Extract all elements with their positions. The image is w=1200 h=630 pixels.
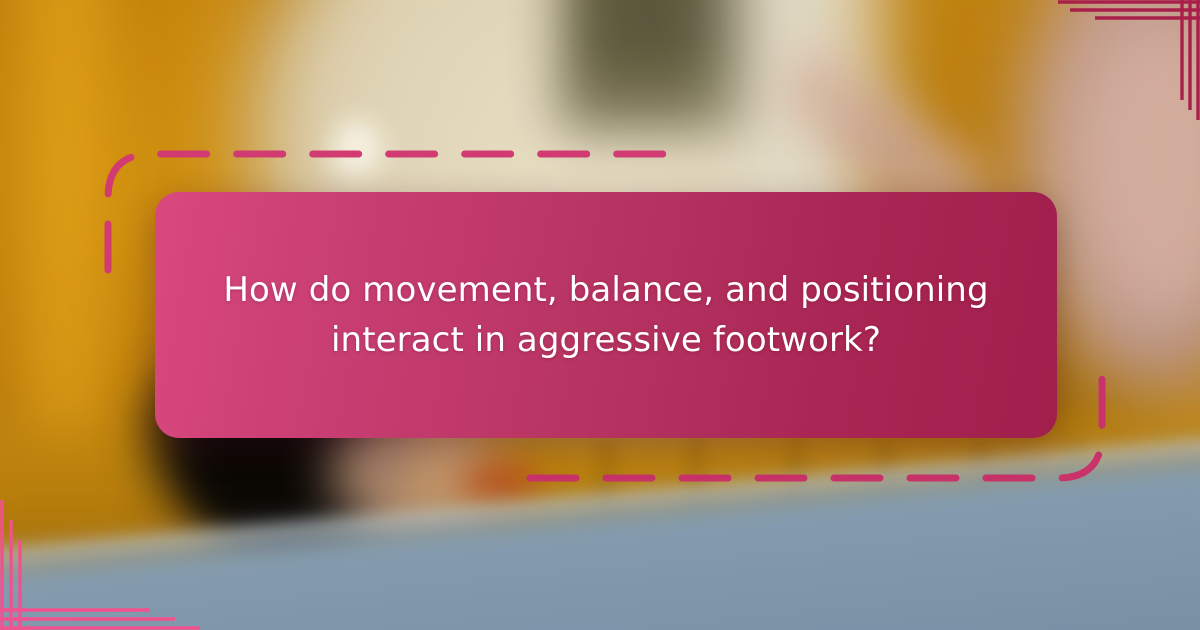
question-card[interactable]: How do movement, balance, and positionin… — [155, 192, 1057, 438]
share-card-canvas: How do movement, balance, and positionin… — [0, 0, 1200, 630]
question-text: How do movement, balance, and positionin… — [221, 265, 991, 366]
